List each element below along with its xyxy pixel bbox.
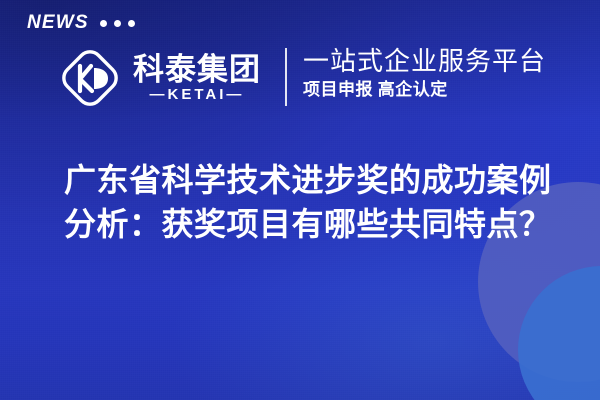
- headline-line-1: 广东省科学技术进步奖的成功案例: [64, 158, 564, 202]
- brand-wordmark: 科泰集团 —KETAI—: [133, 54, 261, 103]
- eyebrow-dot: [114, 20, 121, 27]
- headline-line-2: 分析：获奖项目有哪些共同特点？: [64, 202, 564, 246]
- eyebrow-dot: [128, 20, 135, 27]
- tagline-block: 一站式企业服务平台 项目申报 高企认定: [303, 47, 546, 100]
- eyebrow-label: NEWS: [27, 13, 89, 32]
- brand-name-cn: 科泰集团: [133, 54, 261, 87]
- ketai-diamond-kd-icon: [56, 44, 124, 112]
- header-divider: [285, 48, 287, 106]
- tagline-secondary: 项目申报 高企认定: [303, 81, 546, 100]
- tagline-primary: 一站式企业服务平台: [303, 47, 546, 76]
- eyebrow-dots-icon: [100, 18, 135, 27]
- headline: 广东省科学技术进步奖的成功案例 分析：获奖项目有哪些共同特点？: [64, 158, 564, 246]
- eyebrow: NEWS: [27, 13, 135, 32]
- news-banner: NEWS 科泰集团 —KETAI— 一站式企业服务平台: [0, 0, 600, 400]
- brand-name-en: —KETAI—: [133, 87, 261, 102]
- eyebrow-dot: [100, 20, 107, 27]
- brand-logo: 科泰集团 —KETAI—: [56, 44, 261, 112]
